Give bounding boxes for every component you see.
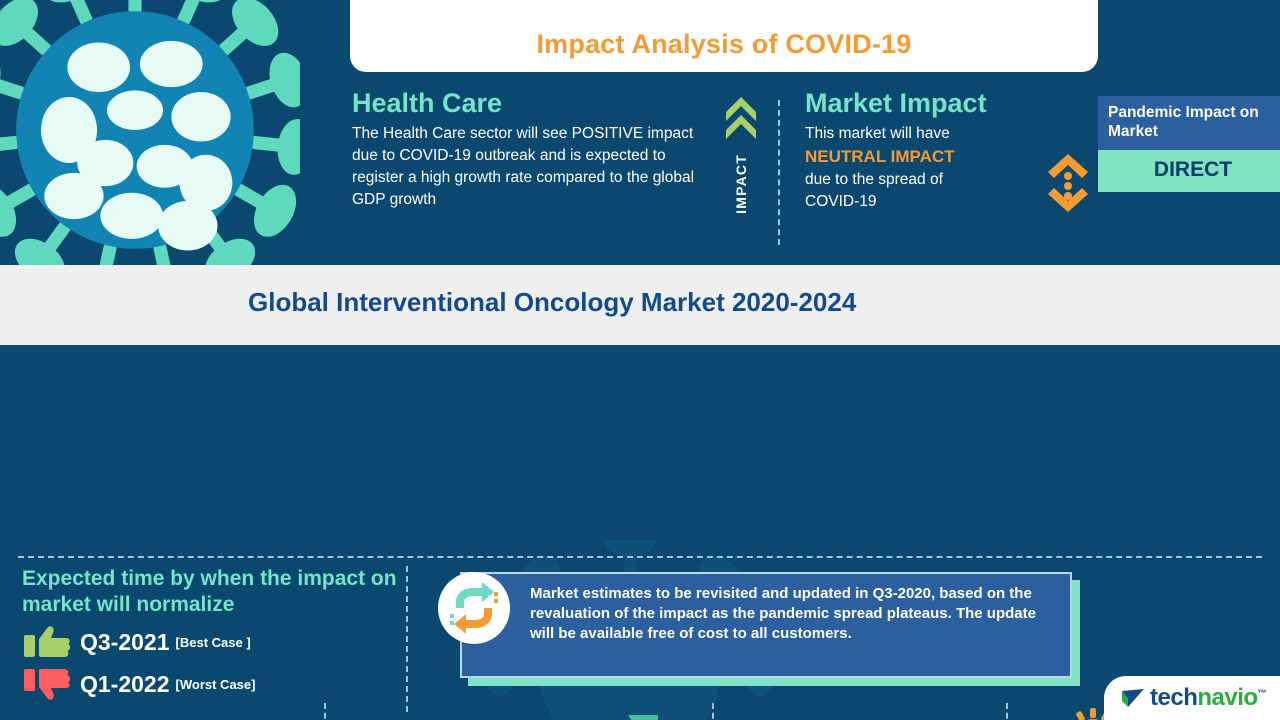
note-box: Market estimates to be revisited and upd…	[460, 572, 1072, 678]
normalize-case-worst: [Worst Case]	[176, 677, 256, 692]
top-section: Impact Analysis of COVID-19 Health Care …	[0, 0, 1280, 265]
normalize-quarter-best: Q3-2021	[80, 629, 170, 656]
report-title: Global Interventional Oncology Market 20…	[248, 287, 856, 318]
market-impact-line1: This market will have	[805, 123, 1040, 145]
pandemic-impact-value: DIRECT	[1098, 150, 1280, 192]
infographic-root: Impact Analysis of COVID-19 Health Care …	[0, 0, 1280, 720]
note-text: Market estimates to be revisited and upd…	[462, 574, 1070, 644]
normalize-row-worst: Q1-2022 [Worst Case]	[22, 667, 402, 701]
bottom-vertical-divider	[406, 566, 408, 712]
title-card: Impact Analysis of COVID-19	[350, 0, 1098, 72]
normalize-block: Expected time by when the impact on mark…	[22, 566, 402, 701]
health-care-block: Health Care The Health Care sector will …	[352, 88, 712, 211]
market-impact-block: Market Impact This market will have NEUT…	[805, 88, 1040, 213]
double-chevron-up-icon	[724, 95, 758, 147]
normalize-row-best: Q3-2021 [Best Case ]	[22, 625, 402, 659]
thumbs-up-icon	[22, 625, 74, 659]
report-title-band: Global Interventional Oncology Market 20…	[0, 265, 1280, 345]
normalize-heading: Expected time by when the impact on mark…	[22, 566, 402, 617]
market-impact-heading: Market Impact	[805, 88, 1040, 119]
metric-divider-3	[1006, 703, 1008, 720]
health-care-body: The Health Care sector will see POSITIVE…	[352, 123, 712, 211]
technavio-wordmark: technavio™	[1150, 684, 1266, 712]
page-title: Impact Analysis of COVID-19	[536, 29, 911, 60]
logo-part2: navio	[1197, 684, 1257, 711]
thumbs-down-icon	[22, 667, 74, 701]
health-care-heading: Health Care	[352, 88, 712, 119]
normalize-quarter-worst: Q1-2022	[80, 671, 170, 698]
normalize-case-best: [Best Case ]	[176, 635, 251, 650]
logo-tm: ™	[1258, 688, 1267, 698]
metric-divider-1	[324, 703, 326, 720]
pandemic-impact-box: Pandemic Impact on Market DIRECT	[1098, 96, 1280, 192]
logo-part1: tech	[1150, 684, 1197, 711]
vertical-divider	[778, 100, 780, 245]
market-impact-line2: due to the spread of	[805, 169, 1040, 191]
technavio-logo: technavio™	[1104, 676, 1280, 720]
market-impact-highlight: NEUTRAL IMPACT	[805, 145, 1040, 169]
metrics-section: Market growth will ACCELERATE at a CAGR …	[0, 345, 1280, 555]
pandemic-impact-label: Pandemic Impact on Market	[1098, 96, 1280, 150]
coronavirus-illustration	[0, 0, 300, 295]
impact-vertical-label: IMPACT	[733, 154, 749, 214]
refresh-cycle-icon	[436, 570, 512, 646]
impact-indicator: IMPACT	[718, 95, 764, 245]
bottom-divider	[18, 556, 1262, 558]
technavio-arrow-icon	[1120, 687, 1146, 709]
market-impact-line3: COVID-19	[805, 191, 1040, 213]
neutral-updown-icon	[1044, 152, 1092, 214]
